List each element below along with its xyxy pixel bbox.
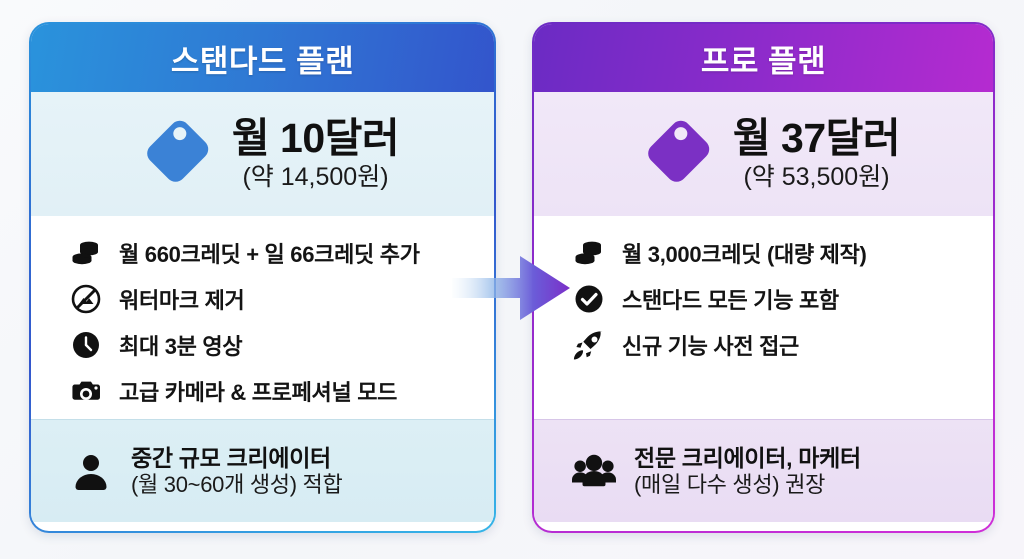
feature-label: 신규 기능 사전 접근 xyxy=(622,329,799,361)
audience-note: (매일 다수 생성) 권장 xyxy=(634,472,861,499)
audience-note: (월 30~60개 생성) 적합 xyxy=(131,472,342,499)
feature-row: 월 3,000크레딧 (대량 제작) xyxy=(572,230,993,276)
coins-stack-icon xyxy=(69,236,103,270)
feature-label: 월 3,000크레딧 (대량 제작) xyxy=(622,237,867,269)
plan-card-pro[interactable]: 프로 플랜 월 37달러 (약 53,500원) xyxy=(532,22,995,533)
audience-title: 중간 규모 크리에이터 xyxy=(131,444,342,472)
feature-label: 워터마크 제거 xyxy=(119,283,244,315)
plan-header-standard: 스탠다드 플랜 xyxy=(31,24,494,92)
feature-row: 스탠다드 모든 기능 포함 xyxy=(572,276,993,322)
group-people-icon xyxy=(572,449,616,493)
audience-text-pro: 전문 크리에이터, 마케터 (매일 다수 생성) 권장 xyxy=(634,444,861,499)
no-watermark-icon xyxy=(69,282,103,316)
price-tag-icon xyxy=(138,113,216,196)
plan-header-pro: 프로 플랜 xyxy=(534,24,993,92)
price-sub-pro: (약 53,500원) xyxy=(733,162,900,192)
feature-label: 스탠다드 모든 기능 포함 xyxy=(622,283,839,315)
price-band-pro: 월 37달러 (약 53,500원) xyxy=(534,92,993,216)
audience-title: 전문 크리에이터, 마케터 xyxy=(634,444,861,472)
plan-card-standard[interactable]: 스탠다드 플랜 월 10달러 (약 14,500원) xyxy=(29,22,496,533)
price-sub-standard: (약 14,500원) xyxy=(232,162,399,192)
check-circle-icon xyxy=(572,282,606,316)
feature-label: 최대 3분 영상 xyxy=(119,329,242,361)
feature-row: 신규 기능 사전 접근 xyxy=(572,322,993,368)
price-band-standard: 월 10달러 (약 14,500원) xyxy=(31,92,494,216)
pricing-comparison-graphic: 스탠다드 플랜 월 10달러 (약 14,500원) xyxy=(0,0,1024,559)
price-main-standard: 월 10달러 xyxy=(232,116,399,160)
feature-list-pro: 월 3,000크레딧 (대량 제작) 스탠다드 모든 기능 포함 xyxy=(534,216,993,419)
camera-icon xyxy=(69,374,103,408)
feature-list-standard: 월 660크레딧 + 일 66크레딧 추가 워터마크 제거 xyxy=(31,216,494,419)
feature-row: 고급 카메라 & 프로페셔널 모드 xyxy=(69,368,494,414)
single-person-icon xyxy=(69,449,113,493)
audience-band-standard: 중간 규모 크리에이터 (월 30~60개 생성) 적합 xyxy=(31,419,494,522)
feature-row: 워터마크 제거 xyxy=(69,276,494,322)
feature-row: 최대 3분 영상 xyxy=(69,322,494,368)
feature-label: 고급 카메라 & 프로페셔널 모드 xyxy=(119,375,397,407)
feature-row: 월 660크레딧 + 일 66크레딧 추가 xyxy=(69,230,494,276)
price-main-pro: 월 37달러 xyxy=(733,116,900,160)
audience-text-standard: 중간 규모 크리에이터 (월 30~60개 생성) 적합 xyxy=(131,444,342,499)
feature-label: 월 660크레딧 + 일 66크레딧 추가 xyxy=(119,237,420,269)
coins-stack-icon xyxy=(572,236,606,270)
plan-title-pro: 프로 플랜 xyxy=(701,36,826,81)
price-text-pro: 월 37달러 (약 53,500원) xyxy=(733,116,900,191)
audience-band-pro: 전문 크리에이터, 마케터 (매일 다수 생성) 권장 xyxy=(534,419,993,522)
clock-icon xyxy=(69,328,103,362)
plan-title-standard: 스탠다드 플랜 xyxy=(171,36,354,81)
price-text-standard: 월 10달러 (약 14,500원) xyxy=(232,116,399,191)
rocket-icon xyxy=(572,328,606,362)
price-tag-icon xyxy=(639,113,717,196)
